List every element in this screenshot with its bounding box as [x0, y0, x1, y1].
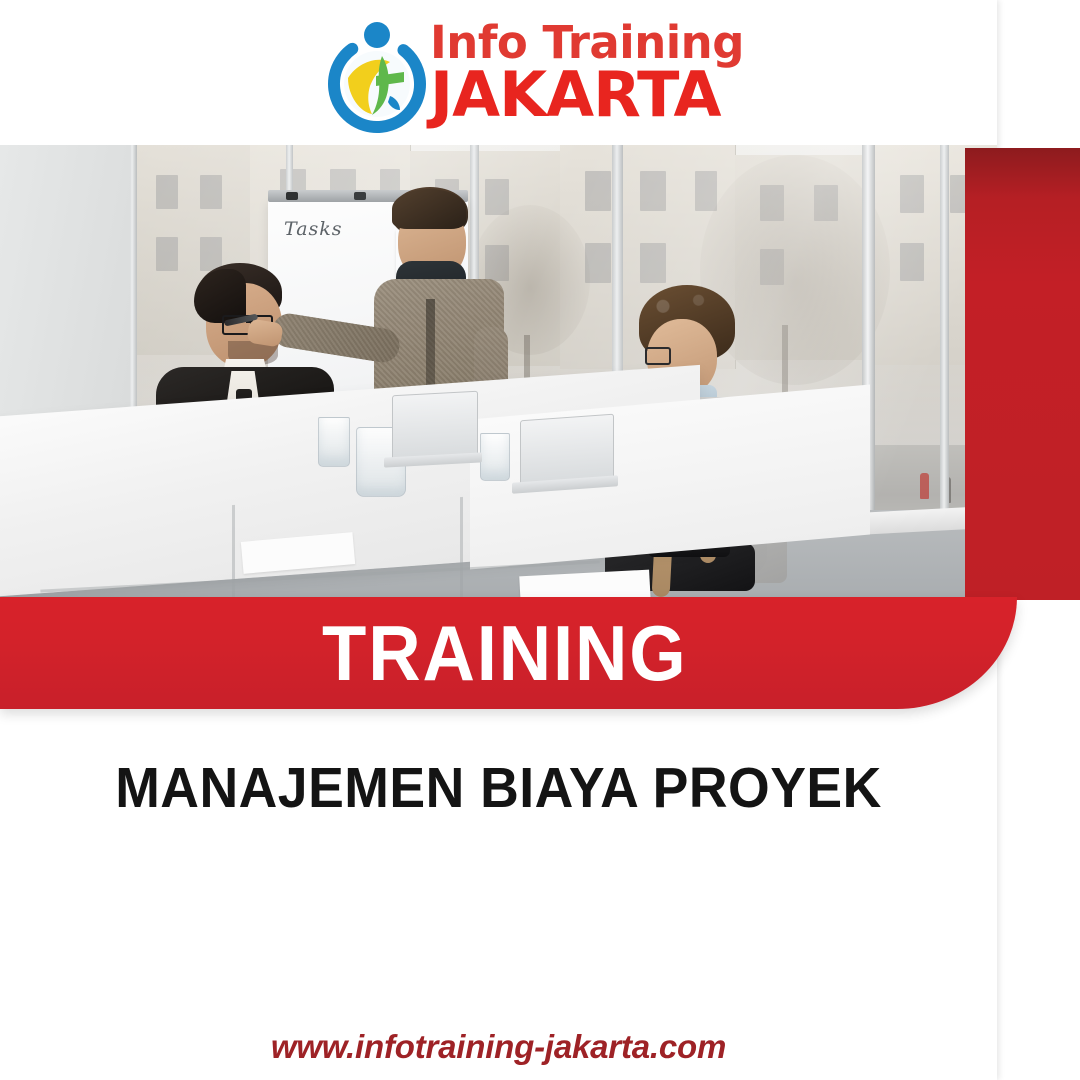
laptop [520, 414, 614, 485]
laptop [392, 391, 478, 460]
info-training-jakarta-logo-icon [320, 12, 438, 134]
poster-canvas: Info Training JAKARTA [0, 0, 1080, 1080]
brand-logo[interactable]: Info Training JAKARTA [320, 12, 744, 134]
water-glass [318, 417, 350, 467]
brand-name-line2: JAKARTA [430, 66, 721, 123]
brand-wordmark: Info Training JAKARTA [430, 22, 744, 122]
website-url[interactable]: www.infotraining-jakarta.com [0, 1028, 997, 1066]
hero-photo: Tasks [0, 145, 997, 600]
meeting-room-scene: Tasks [0, 145, 997, 600]
water-glass [480, 433, 510, 481]
banner-title: TRAINING [322, 614, 687, 692]
header: Info Training JAKARTA [0, 0, 1080, 145]
red-accent-strip [965, 148, 1080, 600]
flipchart-text: Tasks [284, 218, 343, 240]
course-title: MANAJEMEN BIAYA PROYEK [30, 755, 967, 821]
training-banner: TRAINING [0, 597, 1017, 709]
